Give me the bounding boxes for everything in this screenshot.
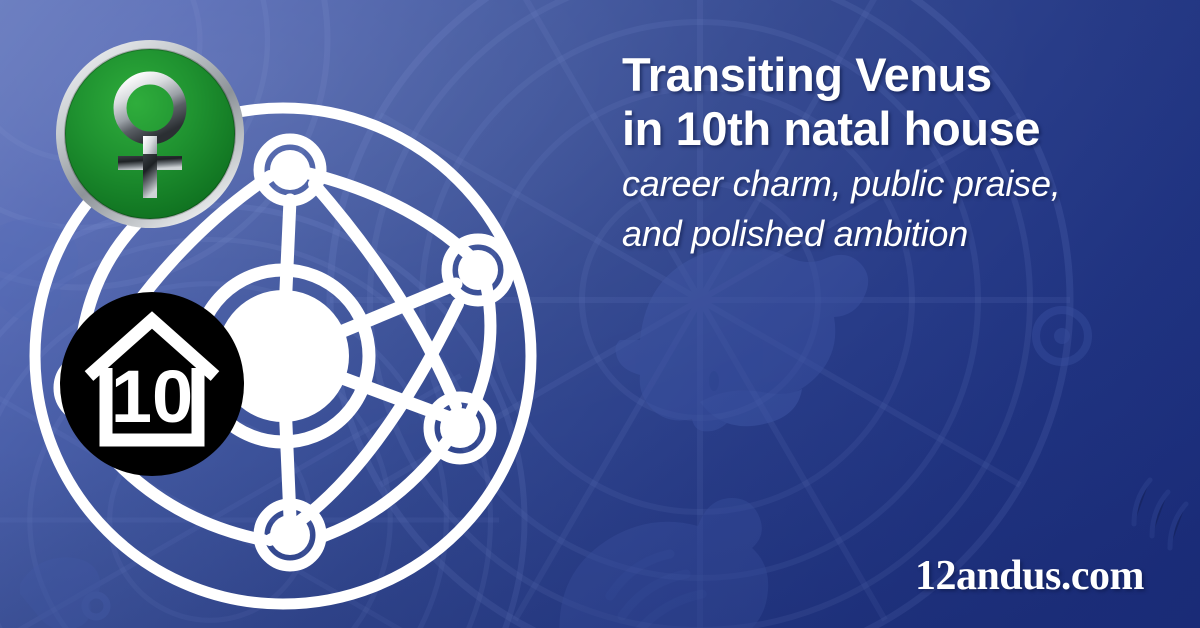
- subheadline-line-1: career charm, public praise,: [622, 161, 1174, 206]
- social-card: 10 Transiting Venus in 10th natal house …: [0, 0, 1200, 628]
- house-number-badge: 10: [58, 290, 246, 478]
- headline-block: Transiting Venus in 10th natal house car…: [622, 48, 1174, 256]
- brand-wordmark[interactable]: 12andus.com: [915, 552, 1144, 600]
- venus-planet-badge: [52, 36, 248, 232]
- wheel-node-upper-right: [447, 239, 509, 301]
- headline-line-1: Transiting Venus: [622, 48, 1174, 102]
- headline-line-2: in 10th natal house: [622, 102, 1174, 156]
- subheadline-line-2: and polished ambition: [622, 211, 1174, 256]
- house-number-label: 10: [111, 355, 193, 438]
